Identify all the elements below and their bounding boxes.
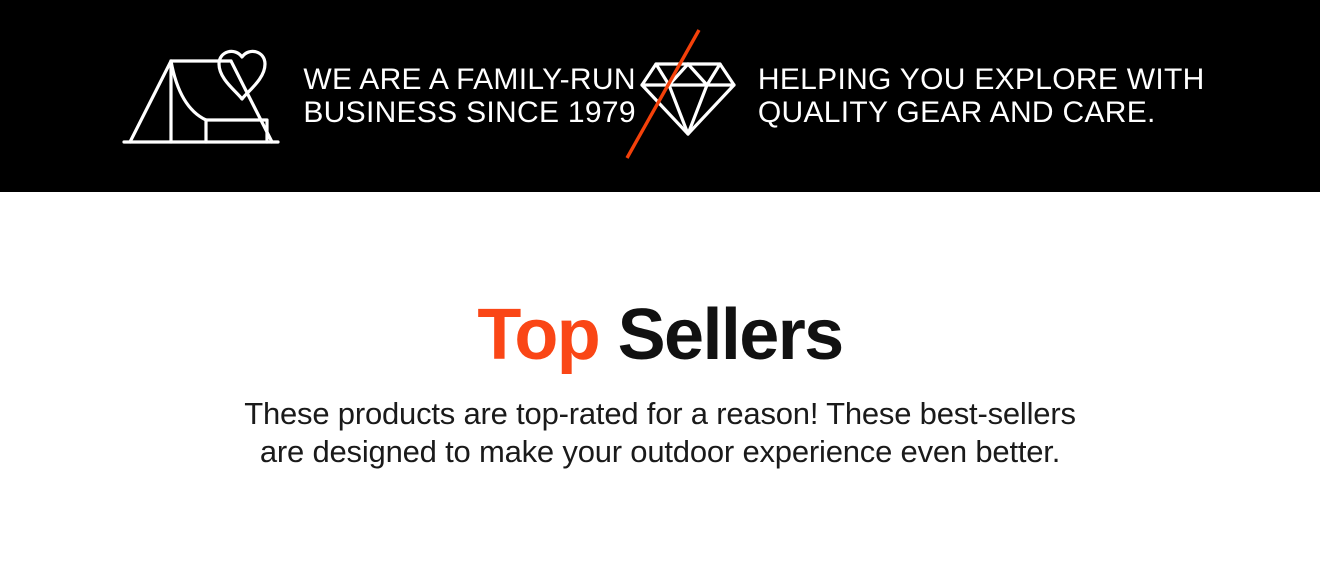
trust-item-family-run: WE ARE A FAMILY-RUN BUSINESS SINCE 1979	[121, 46, 636, 146]
trust-banner-items: WE ARE A FAMILY-RUN BUSINESS SINCE 1979	[0, 0, 1320, 192]
page-title-rest: Sellers	[599, 295, 842, 375]
section-subtitle: These products are top-rated for a reaso…	[0, 374, 1320, 471]
page-title-accent: Top	[477, 295, 599, 375]
trust-banner: WE ARE A FAMILY-RUN BUSINESS SINCE 1979	[0, 0, 1320, 192]
tent-heart-icon	[121, 46, 281, 146]
page-title: Top Sellers	[0, 192, 1320, 374]
trust-item-quality-gear: HELPING YOU EXPLORE WITH QUALITY GEAR AN…	[636, 55, 1205, 137]
diamond-icon	[636, 55, 740, 137]
trust-item-family-run-label: WE ARE A FAMILY-RUN BUSINESS SINCE 1979	[303, 63, 636, 129]
top-sellers-section: Top Sellers These products are top-rated…	[0, 192, 1320, 568]
trust-item-quality-gear-label: HELPING YOU EXPLORE WITH QUALITY GEAR AN…	[758, 63, 1205, 129]
